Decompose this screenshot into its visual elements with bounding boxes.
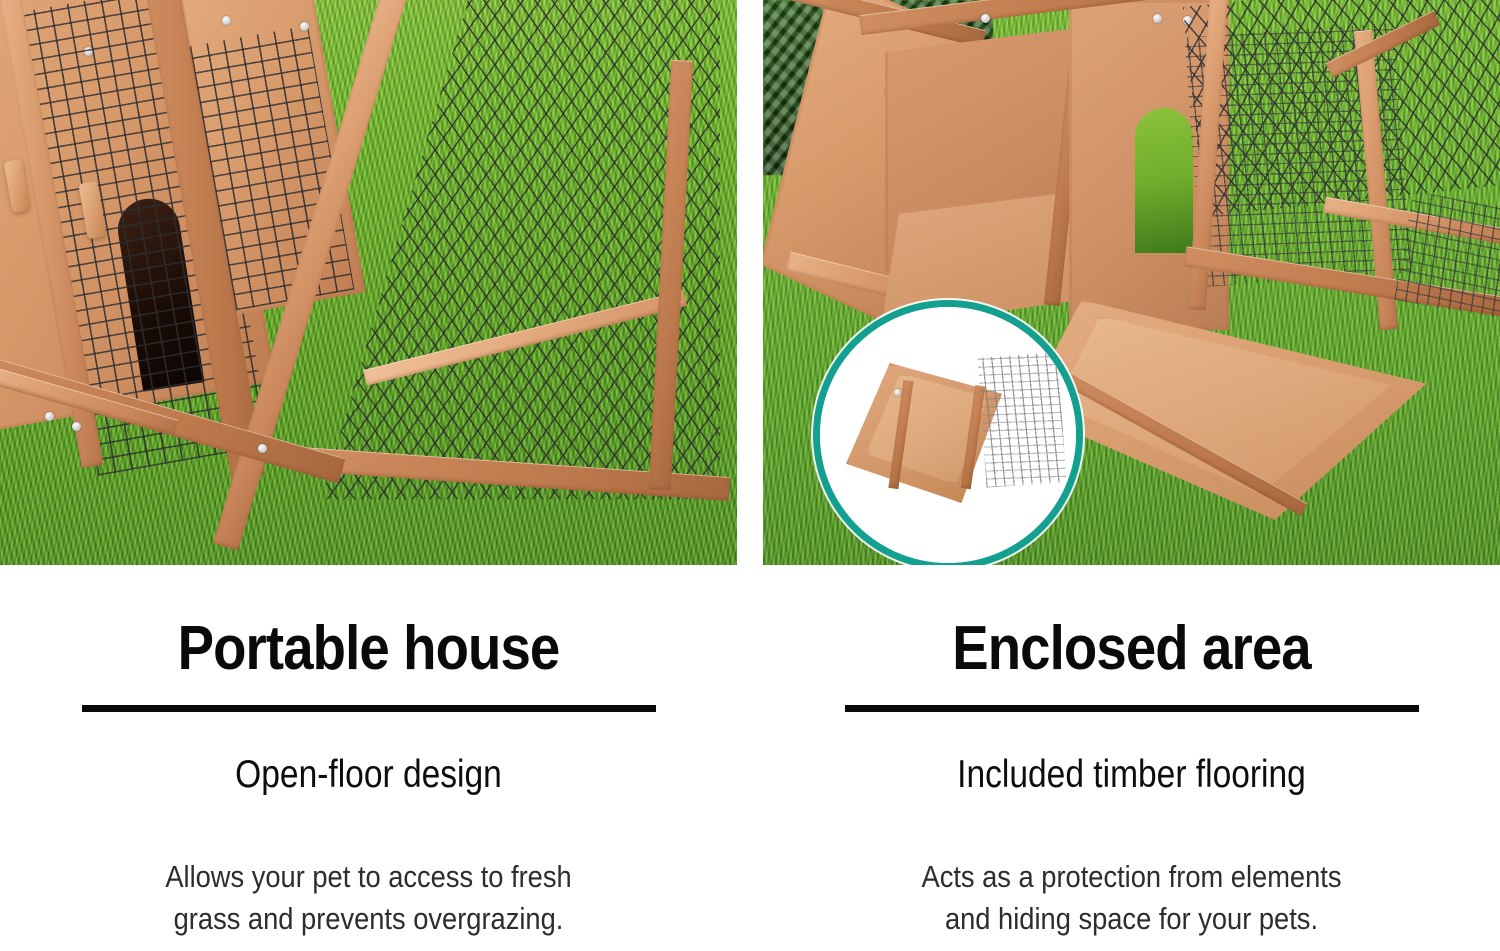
hutch-screw xyxy=(45,412,54,421)
product-photo-portable-house xyxy=(0,0,737,565)
panel-heading: Enclosed area xyxy=(807,618,1456,680)
hutch-screw xyxy=(981,14,990,23)
detail-inset-circle xyxy=(813,300,1083,565)
heading-divider xyxy=(845,705,1419,712)
inset-run-mesh xyxy=(978,352,1067,487)
hutch-screw xyxy=(222,16,231,25)
hutch-screw xyxy=(258,444,267,453)
hutch-screw xyxy=(300,22,309,31)
panel-body-line: Allows your pet to access to fresh xyxy=(44,856,693,898)
panel-body: Allows your pet to access to fresh grass… xyxy=(44,856,693,939)
hutch-screw xyxy=(1153,14,1162,23)
heading-divider xyxy=(82,705,656,712)
hutch-arched-doorway xyxy=(1135,108,1193,253)
feature-panel-portable-house: Portable house Open-floor design Allows … xyxy=(0,0,737,951)
feature-text-portable-house: Portable house Open-floor design Allows … xyxy=(0,565,737,939)
run-mesh-far xyxy=(1394,191,1500,318)
panel-body-line: Acts as a protection from elements xyxy=(807,856,1456,898)
feature-text-enclosed-area: Enclosed area Included timber flooring A… xyxy=(763,565,1500,939)
inset-screw xyxy=(894,389,901,396)
panel-body-line: and hiding space for your pets. xyxy=(807,898,1456,940)
panel-subheading: Open-floor design xyxy=(52,755,686,794)
product-photo-enclosed-area xyxy=(763,0,1500,565)
infographic-board: Portable house Open-floor design Allows … xyxy=(0,0,1500,951)
panel-subheading: Included timber flooring xyxy=(815,755,1449,794)
panel-body: Acts as a protection from elements and h… xyxy=(807,856,1456,939)
feature-panel-enclosed-area: Enclosed area Included timber flooring A… xyxy=(763,0,1500,951)
panel-body-line: grass and prevents overgrazing. xyxy=(44,898,693,940)
hutch-screw xyxy=(72,422,81,431)
panel-heading: Portable house xyxy=(44,618,693,680)
